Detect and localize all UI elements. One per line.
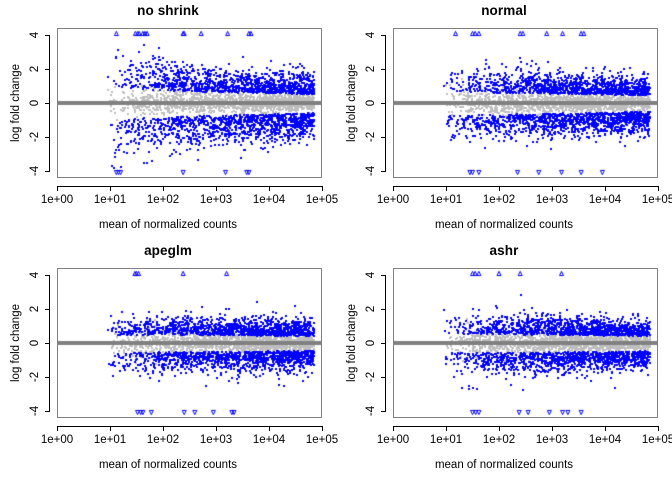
x-tick-no-shrink-4 (269, 186, 270, 191)
x-tick-label-normal-4: 1e+04 (589, 194, 621, 206)
plot-region-apeglm (57, 268, 322, 418)
x-tick-ashr-5 (658, 426, 659, 431)
y-tick-ashr-4 (381, 411, 386, 412)
x-tick-normal-1 (446, 186, 447, 191)
x-tick-apeglm-0 (57, 426, 58, 431)
y-tick-label-ashr-1: 2 (365, 306, 377, 312)
panel-title-ashr: ashr (336, 243, 672, 258)
y-tick-label-no-shrink-2: 0 (29, 100, 41, 106)
y-tick-apeglm-3 (45, 377, 50, 378)
x-axis-line-apeglm (57, 426, 322, 427)
y-tick-label-apeglm-1: 2 (29, 306, 41, 312)
x-tick-apeglm-5 (322, 426, 323, 431)
x-tick-label-ashr-0: 1e+00 (377, 434, 409, 446)
ma-plot-panel-apeglm: apeglm1e+001e+011e+021e+031e+041e+05mean… (0, 240, 336, 480)
y-tick-label-no-shrink-0: 4 (29, 32, 41, 38)
x-tick-label-ashr-2: 1e+02 (483, 434, 515, 446)
y-tick-label-no-shrink-4: -4 (29, 166, 41, 176)
x-tick-no-shrink-3 (216, 186, 217, 191)
x-tick-label-apeglm-4: 1e+04 (253, 434, 285, 446)
y-tick-ashr-2 (381, 343, 386, 344)
y-tick-no-shrink-2 (45, 103, 50, 104)
panel-title-apeglm: apeglm (0, 243, 336, 258)
x-tick-ashr-4 (605, 426, 606, 431)
y-tick-label-normal-0: 4 (365, 32, 377, 38)
x-tick-apeglm-2 (163, 426, 164, 431)
x-tick-no-shrink-0 (57, 186, 58, 191)
y-tick-label-no-shrink-1: 2 (29, 66, 41, 72)
x-axis-title-no-shrink: mean of normalized counts (0, 219, 336, 231)
x-tick-label-no-shrink-2: 1e+02 (147, 194, 179, 206)
x-tick-label-ashr-4: 1e+04 (589, 434, 621, 446)
x-tick-label-no-shrink-5: 1e+05 (306, 194, 338, 206)
plot-region-no-shrink (57, 28, 322, 178)
x-tick-no-shrink-1 (110, 186, 111, 191)
y-tick-label-ashr-2: 0 (365, 340, 377, 346)
plot-region-ashr (393, 268, 658, 418)
y-axis-title-no-shrink: log fold change (10, 64, 22, 142)
y-tick-normal-4 (381, 171, 386, 172)
panel-title-no-shrink: no shrink (0, 3, 336, 18)
y-tick-label-no-shrink-3: -2 (29, 132, 41, 142)
y-tick-normal-2 (381, 103, 386, 104)
x-tick-label-normal-1: 1e+01 (430, 194, 462, 206)
y-tick-label-apeglm-0: 4 (29, 272, 41, 278)
y-axis-title-normal: log fold change (346, 64, 358, 142)
x-tick-label-normal-2: 1e+02 (483, 194, 515, 206)
y-tick-no-shrink-1 (45, 69, 50, 70)
x-tick-label-apeglm-1: 1e+01 (94, 434, 126, 446)
y-tick-label-normal-4: -4 (365, 166, 377, 176)
x-tick-label-apeglm-3: 1e+03 (200, 434, 232, 446)
scatter-points-no-shrink (57, 28, 322, 178)
y-tick-label-ashr-4: -4 (365, 406, 377, 416)
panel-title-normal: normal (336, 3, 672, 18)
x-tick-apeglm-4 (269, 426, 270, 431)
x-tick-ashr-2 (499, 426, 500, 431)
y-tick-label-apeglm-4: -4 (29, 406, 41, 416)
x-axis-line-normal (393, 186, 658, 187)
y-tick-label-ashr-3: -2 (365, 372, 377, 382)
x-tick-label-apeglm-5: 1e+05 (306, 434, 338, 446)
y-tick-no-shrink-3 (45, 137, 50, 138)
y-tick-apeglm-0 (45, 275, 50, 276)
y-tick-apeglm-2 (45, 343, 50, 344)
y-tick-normal-3 (381, 137, 386, 138)
scatter-points-ashr (393, 268, 658, 418)
plot-region-normal (393, 28, 658, 178)
x-axis-title-ashr: mean of normalized counts (336, 459, 672, 471)
x-tick-label-no-shrink-0: 1e+00 (41, 194, 73, 206)
ma-plot-panel-no-shrink: no shrink1e+001e+011e+021e+031e+041e+05m… (0, 0, 336, 240)
x-tick-normal-0 (393, 186, 394, 191)
y-tick-label-normal-1: 2 (365, 66, 377, 72)
x-tick-label-apeglm-2: 1e+02 (147, 434, 179, 446)
x-axis-line-no-shrink (57, 186, 322, 187)
ma-plot-figure: no shrink1e+001e+011e+021e+031e+041e+05m… (0, 0, 672, 480)
scatter-points-normal (393, 28, 658, 178)
x-tick-label-no-shrink-4: 1e+04 (253, 194, 285, 206)
x-tick-label-no-shrink-1: 1e+01 (94, 194, 126, 206)
y-axis-title-ashr: log fold change (346, 304, 358, 382)
x-tick-label-ashr-5: 1e+05 (642, 434, 672, 446)
y-tick-apeglm-1 (45, 309, 50, 310)
y-tick-ashr-3 (381, 377, 386, 378)
x-tick-ashr-0 (393, 426, 394, 431)
x-tick-label-normal-3: 1e+03 (536, 194, 568, 206)
x-tick-normal-4 (605, 186, 606, 191)
x-tick-normal-2 (499, 186, 500, 191)
y-tick-no-shrink-4 (45, 171, 50, 172)
ma-plot-panel-normal: normal1e+001e+011e+021e+031e+041e+05mean… (336, 0, 672, 240)
x-tick-label-ashr-1: 1e+01 (430, 434, 462, 446)
y-tick-ashr-1 (381, 309, 386, 310)
x-tick-ashr-3 (552, 426, 553, 431)
x-axis-title-apeglm: mean of normalized counts (0, 459, 336, 471)
y-axis-title-apeglm: log fold change (10, 304, 22, 382)
scatter-points-apeglm (57, 268, 322, 418)
x-tick-no-shrink-2 (163, 186, 164, 191)
x-tick-label-ashr-3: 1e+03 (536, 434, 568, 446)
x-tick-label-no-shrink-3: 1e+03 (200, 194, 232, 206)
y-tick-ashr-0 (381, 275, 386, 276)
ma-plot-panel-ashr: ashr1e+001e+011e+021e+031e+041e+05mean o… (336, 240, 672, 480)
x-tick-label-normal-5: 1e+05 (642, 194, 672, 206)
x-axis-line-ashr (393, 426, 658, 427)
x-tick-normal-5 (658, 186, 659, 191)
y-tick-normal-1 (381, 69, 386, 70)
y-tick-label-apeglm-3: -2 (29, 372, 41, 382)
x-axis-title-normal: mean of normalized counts (336, 219, 672, 231)
x-tick-ashr-1 (446, 426, 447, 431)
x-tick-apeglm-1 (110, 426, 111, 431)
y-tick-label-normal-2: 0 (365, 100, 377, 106)
x-tick-normal-3 (552, 186, 553, 191)
y-tick-apeglm-4 (45, 411, 50, 412)
y-tick-label-normal-3: -2 (365, 132, 377, 142)
x-tick-label-normal-0: 1e+00 (377, 194, 409, 206)
y-tick-label-ashr-0: 4 (365, 272, 377, 278)
x-tick-apeglm-3 (216, 426, 217, 431)
y-tick-label-apeglm-2: 0 (29, 340, 41, 346)
x-tick-label-apeglm-0: 1e+00 (41, 434, 73, 446)
y-tick-normal-0 (381, 35, 386, 36)
x-tick-no-shrink-5 (322, 186, 323, 191)
y-tick-no-shrink-0 (45, 35, 50, 36)
